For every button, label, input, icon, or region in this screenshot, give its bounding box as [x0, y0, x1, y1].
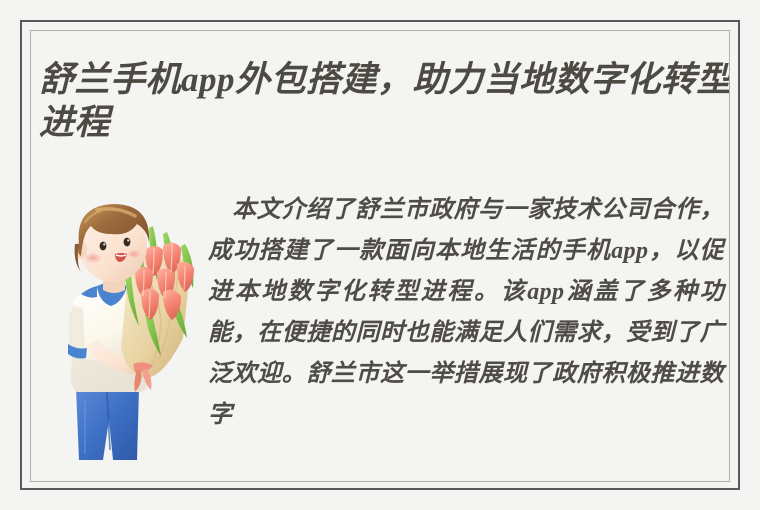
article-body: 本文介绍了舒兰市政府与一家技术公司合作，成功搭建了一款面向本地生活的手机app，… [208, 190, 724, 436]
page-title: 舒兰手机app外包搭建，助力当地数字化转型进程 [39, 58, 730, 144]
card-inner-border: 舒兰手机app外包搭建，助力当地数字化转型进程 [30, 30, 730, 482]
head [75, 204, 150, 282]
illustration-svg [41, 188, 201, 482]
article-card: 舒兰手机app外包搭建，助力当地数字化转型进程 [0, 0, 760, 510]
pants [76, 388, 139, 460]
boy-with-bouquet-illustration [41, 188, 201, 482]
article-content: 本文介绍了舒兰市政府与一家技术公司合作，成功搭建了一款面向本地生活的手机app，… [31, 176, 729, 482]
